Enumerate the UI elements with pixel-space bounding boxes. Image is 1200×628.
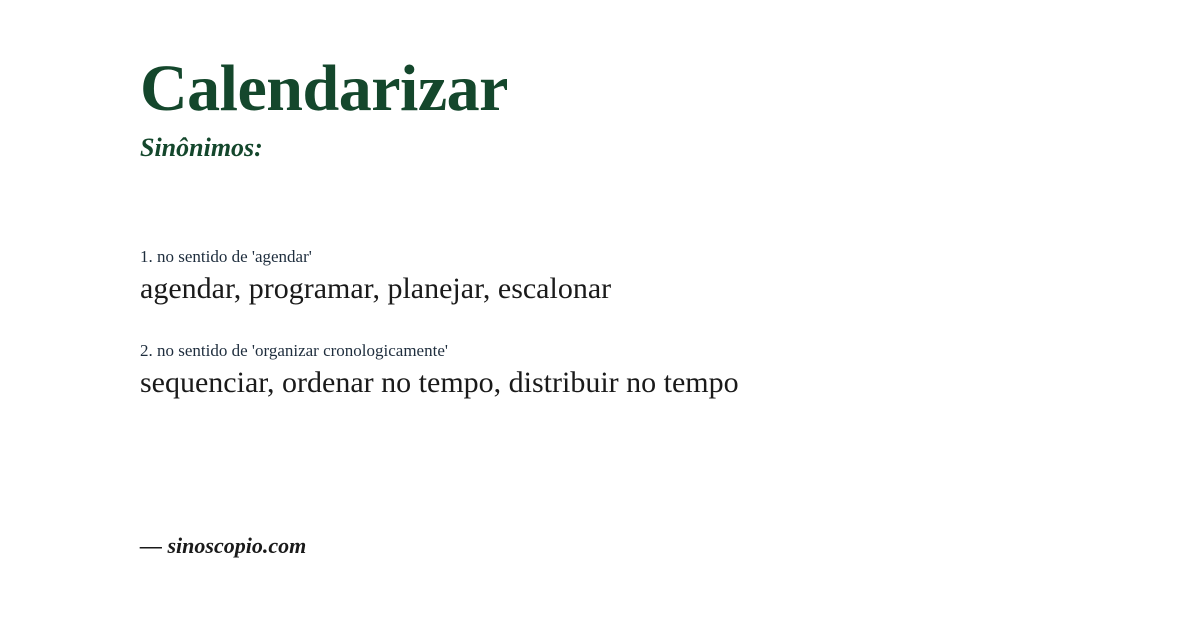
section-label-synonyms: Sinônimos: [140,132,1140,163]
sense-gloss: 1. no sentido de 'agendar' [140,246,1150,267]
sense-synonyms: sequenciar, ordenar no tempo, distribuir… [140,364,1150,402]
sense-entry: 1. no sentido de 'agendar' agendar, prog… [140,246,1150,308]
card-header: Calendarizar Sinônimos: [140,55,1140,163]
sense-entry: 2. no sentido de 'organizar cronologicam… [140,340,1150,402]
source-attribution: — sinoscopio.com [140,533,306,559]
sense-gloss: 2. no sentido de 'organizar cronologicam… [140,340,1150,361]
word-card: Calendarizar Sinônimos: 1. no sentido de… [0,0,1200,628]
card-footer: — sinoscopio.com [140,533,306,559]
page-title: Calendarizar [140,55,1140,124]
sense-list: 1. no sentido de 'agendar' agendar, prog… [140,246,1150,402]
sense-synonyms: agendar, programar, planejar, escalonar [140,270,1150,308]
